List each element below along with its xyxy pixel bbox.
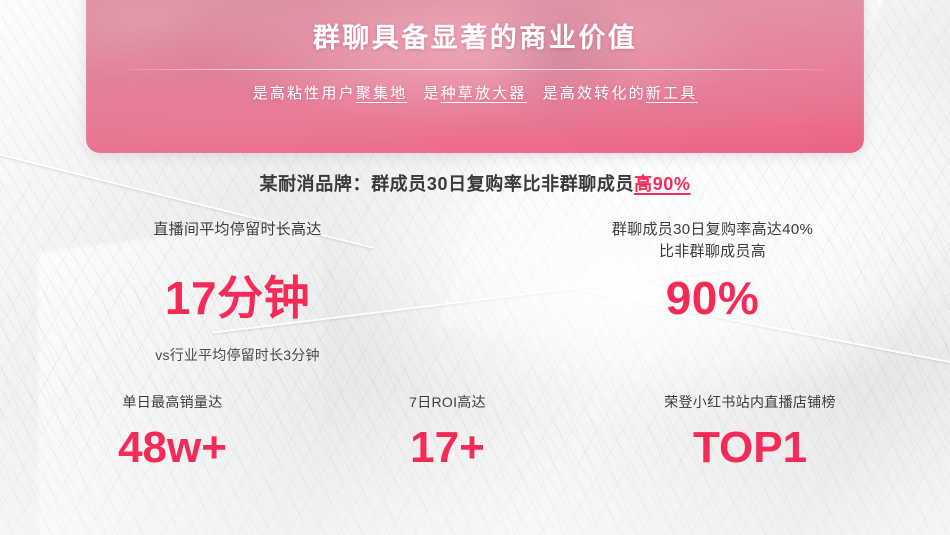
headline-accent-value: 高90% xyxy=(634,174,690,194)
stat-value-ranking: TOP1 xyxy=(693,426,807,470)
stat-label-ranking: 荣登小红书站内直播店铺榜 xyxy=(664,392,836,412)
headline-plain-text: 某耐消品牌：群成员30日复购率比非群聊成员 xyxy=(259,174,634,194)
hero-subtitle-part2-emphasis: 种草放大器 xyxy=(441,85,527,102)
stat-block-ranking: 荣登小红书站内直播店铺榜 TOP1 xyxy=(550,392,950,470)
stat-sub-live-duration: vs行业平均停留时长3分钟 xyxy=(155,345,319,365)
hero-title: 群聊具备显著的商业价值 xyxy=(313,16,638,55)
stat-label-repurchase-line2: 比非群聊成员高 xyxy=(659,241,766,263)
hero-banner-card: 群聊具备显著的商业价值 是高粘性用户聚集地是种草放大器是高效转化的新工具 xyxy=(86,0,864,153)
headline-statement: 某耐消品牌：群成员30日复购率比非群聊成员高90% xyxy=(0,170,950,196)
stat-label-repurchase-line1: 群聊成员30日复购率高达40% xyxy=(612,219,813,241)
hero-subtitle: 是高粘性用户聚集地是种草放大器是高效转化的新工具 xyxy=(253,70,698,103)
hero-subtitle-part3-plain: 是高效转化的 xyxy=(543,85,646,102)
stat-label-daily-sales: 单日最高销量达 xyxy=(122,392,222,412)
stat-value-live-duration: 17分钟 xyxy=(165,275,310,321)
hero-content: 群聊具备显著的商业价值 是高粘性用户聚集地是种草放大器是高效转化的新工具 xyxy=(86,0,864,153)
stat-block-roi: 7日ROI高达 17+ xyxy=(345,392,550,470)
hero-subtitle-part1-emphasis: 聚集地 xyxy=(356,85,408,102)
primary-stats-row: 直播间平均停留时长高达 17分钟 vs行业平均停留时长3分钟 群聊成员30日复购… xyxy=(0,219,950,365)
stat-block-daily-sales: 单日最高销量达 48w+ xyxy=(0,392,345,470)
stat-block-repurchase-rate: 群聊成员30日复购率高达40% 比非群聊成员高 90% xyxy=(475,219,950,365)
hero-subtitle-part3-emphasis: 新工具 xyxy=(646,85,698,102)
stat-block-live-duration: 直播间平均停留时长高达 17分钟 vs行业平均停留时长3分钟 xyxy=(0,219,475,365)
slide-canvas: 群聊具备显著的商业价值 是高粘性用户聚集地是种草放大器是高效转化的新工具 某耐消… xyxy=(0,0,950,535)
stat-value-repurchase-rate: 90% xyxy=(666,275,760,321)
stat-value-roi: 17+ xyxy=(410,426,485,470)
secondary-stats-row: 单日最高销量达 48w+ 7日ROI高达 17+ 荣登小红书站内直播店铺榜 TO… xyxy=(0,392,950,470)
hero-subtitle-part1-plain: 是高粘性用户 xyxy=(253,85,356,102)
hero-subtitle-part2-plain: 是 xyxy=(423,85,440,102)
stat-label-roi: 7日ROI高达 xyxy=(409,392,486,412)
stat-label-live-duration: 直播间平均停留时长高达 xyxy=(153,219,321,241)
stat-value-daily-sales: 48w+ xyxy=(118,426,227,470)
